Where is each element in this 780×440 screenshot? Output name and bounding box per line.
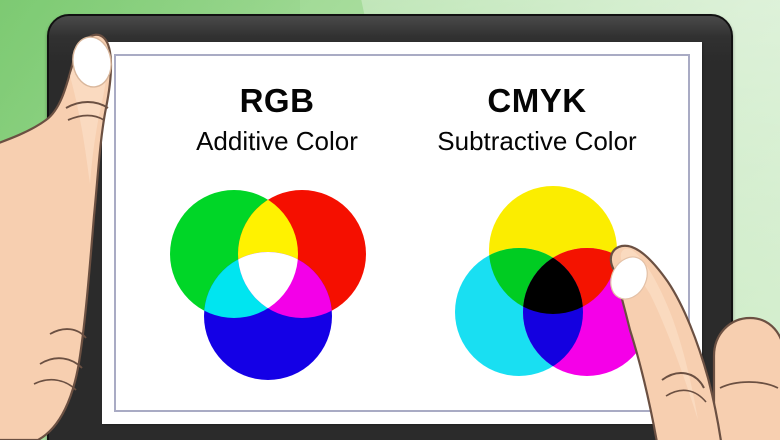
cmyk-subtitle: Subtractive Color [398,128,676,154]
rgb-venn-diagram [152,178,382,404]
tablet-device[interactable]: RGB Additive Color [47,14,733,440]
tablet-screen[interactable]: RGB Additive Color [102,42,702,424]
cmyk-venn-diagram [437,170,667,396]
screenshot-scene: RGB Additive Color [0,0,780,440]
rgb-subtitle: Additive Color [142,128,412,154]
rgb-title: RGB [142,84,412,117]
cmyk-title: CMYK [402,84,672,117]
screen-content: RGB Additive Color [102,42,702,424]
